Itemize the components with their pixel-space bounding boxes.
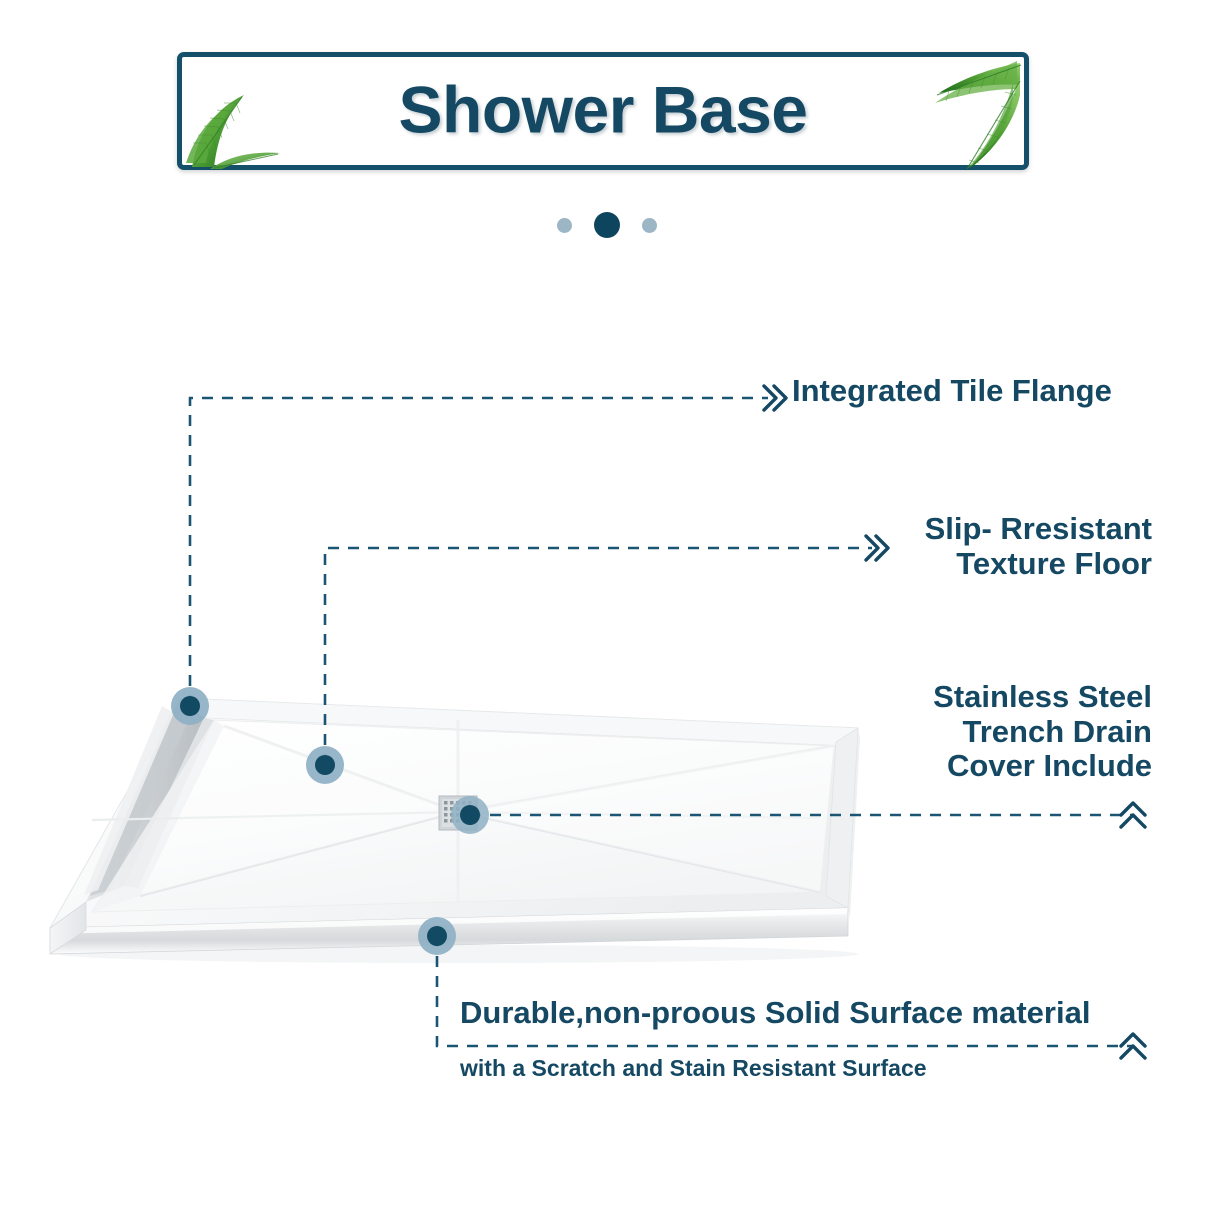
callout-label-texture-floor: Slip- Rresistant Texture Floor xyxy=(862,512,1152,581)
marker-trench-drain xyxy=(451,796,489,834)
callout-line: Texture Floor xyxy=(862,547,1152,582)
marker-solid-surface xyxy=(418,917,456,955)
callout-subtitle-solid-surface: with a Scratch and Stain Resistant Surfa… xyxy=(460,1056,927,1082)
marker-texture-floor xyxy=(306,746,344,784)
callout-leader-lines xyxy=(0,0,1214,1214)
callout-line: Integrated Tile Flange xyxy=(792,374,1112,409)
chevron-up-icon-3b xyxy=(1121,815,1145,827)
callout-label-solid-surface: Durable,non-proous Solid Surface materia… xyxy=(460,996,1090,1031)
callout-line: Trench Drain xyxy=(862,715,1152,750)
leader-line-tile-flange xyxy=(190,398,768,706)
callout-label-trench-drain: Stainless Steel Trench Drain Cover Inclu… xyxy=(862,680,1152,784)
chevron-up-icon-3 xyxy=(1121,803,1145,815)
callout-line: Durable,non-proous Solid Surface materia… xyxy=(460,996,1090,1031)
chevron-up-icon-4b xyxy=(1121,1046,1145,1058)
callout-label-tile-flange: Integrated Tile Flange xyxy=(792,374,1112,409)
leader-line-texture-floor xyxy=(325,548,872,765)
callout-line: Stainless Steel xyxy=(862,680,1152,715)
callout-markers xyxy=(171,687,489,955)
chevron-up-icon-4 xyxy=(1121,1034,1145,1046)
callout-line: Cover Include xyxy=(862,749,1152,784)
callout-line: Slip- Rresistant xyxy=(862,512,1152,547)
infographic-canvas: Shower Base xyxy=(0,0,1214,1214)
marker-tile-flange xyxy=(171,687,209,725)
